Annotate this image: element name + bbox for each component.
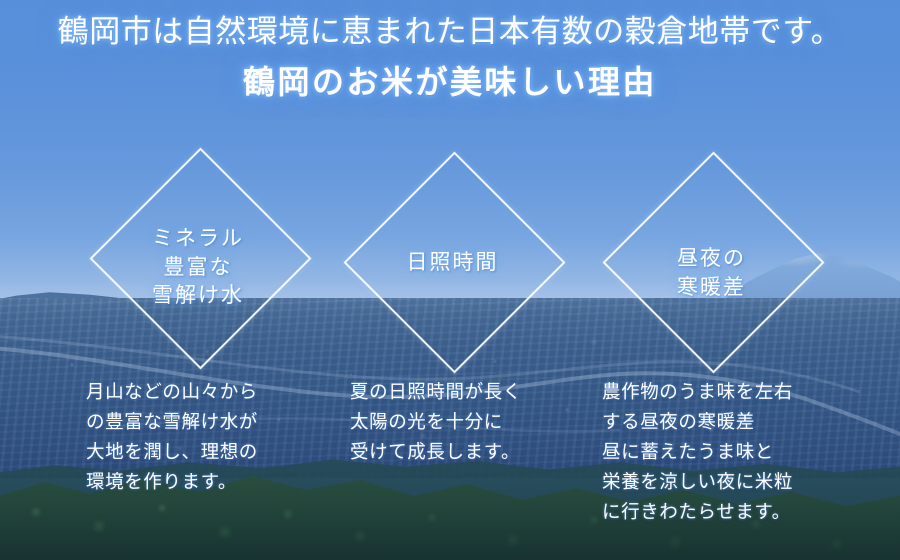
headline-subtitle: 鶴岡のお米が美味しい理由 [0, 63, 900, 101]
feature-badge-sunshine-hours: 日照時間 [343, 153, 562, 368]
feature-description-mineral-rich-snowmelt: 月山などの山々から の豊富な雪解け水が 大地を潤し、理想の 環境を作ります。 [86, 378, 326, 498]
headline-block: 鶴岡市は自然環境に恵まれた日本有数の穀倉地帯です。 鶴岡のお米が美味しい理由 [0, 0, 900, 101]
feature-description-sunshine-hours: 夏の日照時間が長く 太陽の光を十分に 受けて成長します。 [350, 378, 600, 468]
feature-description-day-night-temperature-range: 農作物のうま味を左右 する昼夜の寒暖差 昼に蓄えたうま味と 栄養を涼しい夜に米粒… [602, 378, 872, 528]
feature-badge-mineral-rich-snowmelt: ミネラル 豊富な 雪解け水 [110, 152, 286, 360]
headline-main: 鶴岡市は自然環境に恵まれた日本有数の穀倉地帯です。 [0, 14, 900, 51]
promotional-banner: 鶴岡市は自然環境に恵まれた日本有数の穀倉地帯です。 鶴岡のお米が美味しい理由 ミ… [0, 0, 900, 560]
feature-badge-day-night-temperature-range: 昼夜の 寒暖差 [603, 152, 820, 368]
feature-badge-label: ミネラル 豊富な 雪解け水 [152, 224, 244, 311]
feature-badge-label: 日照時間 [407, 248, 499, 277]
feature-badge-label: 昼夜の 寒暖差 [677, 244, 746, 302]
